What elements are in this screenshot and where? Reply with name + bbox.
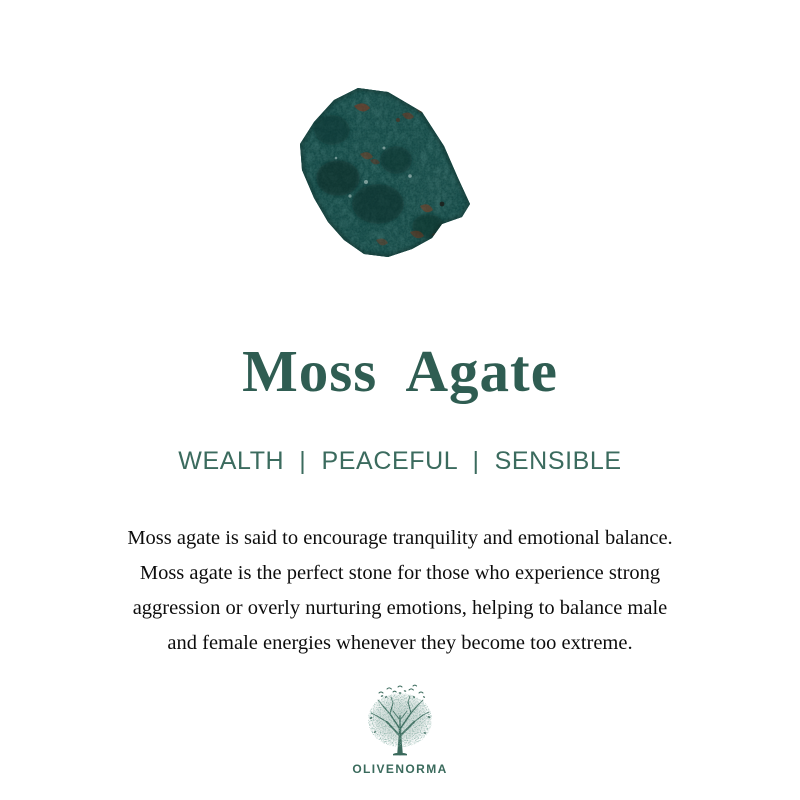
- olive-tree-icon: [357, 684, 443, 760]
- description-line: Moss agate is the perfect stone for thos…: [40, 556, 760, 591]
- moss-agate-stone-illustration: [292, 86, 472, 260]
- product-card: Moss Agate WEALTH | PEACEFUL | SENSIBLE …: [0, 0, 800, 800]
- description-line: Moss agate is said to encourage tranquil…: [40, 521, 760, 556]
- description-line: aggression or overly nurturing emotions,…: [40, 591, 760, 626]
- product-description: Moss agate is said to encourage tranquil…: [40, 521, 760, 661]
- page-title: Moss Agate: [0, 339, 800, 404]
- description-line: and female energies whenever they become…: [40, 626, 760, 661]
- birds-icon: [379, 685, 423, 693]
- product-image: [292, 86, 472, 260]
- brand-wordmark: OLIVENORMA: [352, 763, 447, 775]
- brand-logo: OLIVENORMA: [0, 684, 800, 775]
- product-attributes: WEALTH | PEACEFUL | SENSIBLE: [0, 446, 800, 476]
